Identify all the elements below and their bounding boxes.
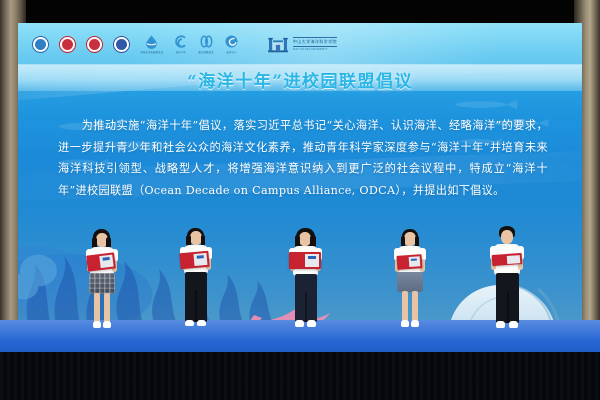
university-logo: 中山大学海洋科学学院 SUN YAT-SEN UNIVERSITY	[267, 35, 337, 53]
shoe-left	[93, 321, 101, 328]
stage-scene: 中国海洋发展基金会 海洋十年 联合国教科文 海洋中心	[0, 0, 600, 400]
red-reading-folder	[397, 254, 423, 270]
shoe-left	[496, 321, 505, 328]
emblem-red-seal-two-icon	[86, 36, 103, 53]
folder-emblem	[197, 255, 204, 259]
student-2	[176, 228, 216, 340]
university-name-en: SUN YAT-SEN UNIVERSITY	[293, 48, 337, 51]
red-reading-folder	[86, 252, 116, 271]
folder-emblem	[411, 258, 417, 261]
initiative-paragraph: 为推动实施“海洋十年”倡议，落实习近平总书记“关心海洋、认识海洋、经略海洋”的要…	[58, 115, 548, 201]
shoe-right	[411, 320, 419, 327]
university-name-cn: 中山大学海洋科学学院	[293, 37, 337, 46]
red-reading-folder	[492, 253, 523, 266]
plaid-skirt	[89, 273, 115, 294]
ceiling-void	[26, 0, 574, 23]
leg-right	[412, 291, 418, 322]
shoe-right	[103, 321, 111, 328]
emblem-wave-drop-icon: 中国海洋发展基金会	[140, 32, 163, 56]
head	[190, 231, 202, 245]
student-3	[285, 228, 327, 340]
apron-pleats	[0, 352, 600, 400]
trouser-gap	[195, 290, 197, 322]
logo-list: 中国海洋发展基金会 海洋十年 联合国教科文 海洋中心	[32, 29, 337, 59]
emblem-swirl-circle-icon: 海洋中心	[224, 32, 239, 56]
shoe-left	[401, 320, 409, 327]
emblem-spiral-shell-caption: 海洋十年	[176, 50, 186, 54]
shoe-left	[185, 320, 194, 326]
shoe-right	[307, 320, 316, 327]
emblem-wave-drop-caption: 中国海洋发展基金会	[140, 50, 163, 54]
stage-apron-skirt	[0, 352, 600, 400]
emblem-spiral-shell-icon: 海洋十年	[173, 32, 188, 56]
trouser-gap	[305, 292, 307, 322]
sponsor-logo-bar: 中国海洋发展基金会 海洋十年 联合国教科文 海洋中心	[18, 23, 582, 65]
leg-left	[402, 291, 408, 322]
folder-emblem	[308, 256, 316, 259]
trouser-gap	[507, 292, 509, 323]
denim-skirt	[397, 272, 423, 292]
red-reading-folder	[289, 252, 321, 269]
emblem-swirl-circle-caption: 海洋中心	[226, 50, 236, 54]
student-4	[390, 229, 430, 339]
folder-page	[507, 255, 521, 264]
emblem-double-loop-icon: 联合国教科文	[198, 32, 214, 56]
shoe-right	[509, 321, 518, 328]
head	[501, 230, 513, 244]
paragraph-text: 为推动实施“海洋十年”倡议，落实习近平总书记“关心海洋、认识海洋、经略海洋”的要…	[58, 119, 548, 197]
campus-gate-icon	[267, 35, 289, 53]
emblem-red-seal-one-icon	[59, 36, 76, 53]
emblem-ocean-institute-icon	[32, 36, 49, 53]
student-1	[82, 229, 122, 339]
university-name-block: 中山大学海洋科学学院 SUN YAT-SEN UNIVERSITY	[293, 37, 337, 50]
red-reading-folder	[179, 251, 209, 269]
leg-left	[94, 293, 100, 323]
page-title: “海洋十年”进校园联盟倡议	[18, 67, 582, 91]
emblem-blue-seal-icon	[113, 36, 130, 53]
student-5	[487, 226, 529, 341]
shoe-right	[197, 320, 206, 326]
emblem-double-loop-caption: 联合国教科文	[198, 50, 214, 54]
leg-right	[104, 293, 110, 323]
shoe-left	[295, 320, 304, 327]
